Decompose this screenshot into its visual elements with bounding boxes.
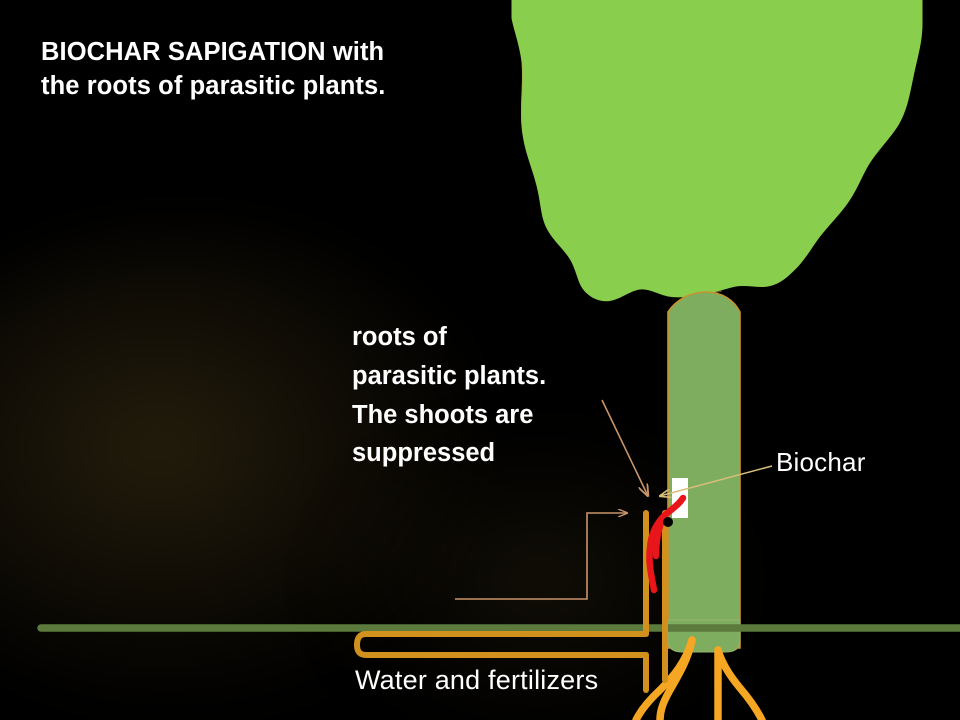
irrigation-pipe [357,513,665,690]
slide-canvas: BIOCHAR SAPIGATION with the roots of par… [0,0,960,720]
callout-parasitic-roots: roots of parasitic plants. The shoots ar… [352,318,622,473]
callout-line-1: roots of [352,318,622,357]
label-water-and-fertilizers: Water and fertilizers [355,665,598,696]
page-title: BIOCHAR SAPIGATION with the roots of par… [41,36,511,103]
label-biochar: Biochar [776,447,866,478]
tree-canopy [512,0,922,301]
roots-annotation-elbow [455,513,627,599]
tree-trunk [668,292,740,652]
callout-line-3: The shoots are [352,396,622,435]
callout-line-2: parasitic plants. [352,357,622,396]
page-title-line-2: the roots of parasitic plants. [41,70,511,104]
page-title-line-1: BIOCHAR SAPIGATION with [41,38,384,66]
callout-line-4: suppressed [352,434,622,473]
